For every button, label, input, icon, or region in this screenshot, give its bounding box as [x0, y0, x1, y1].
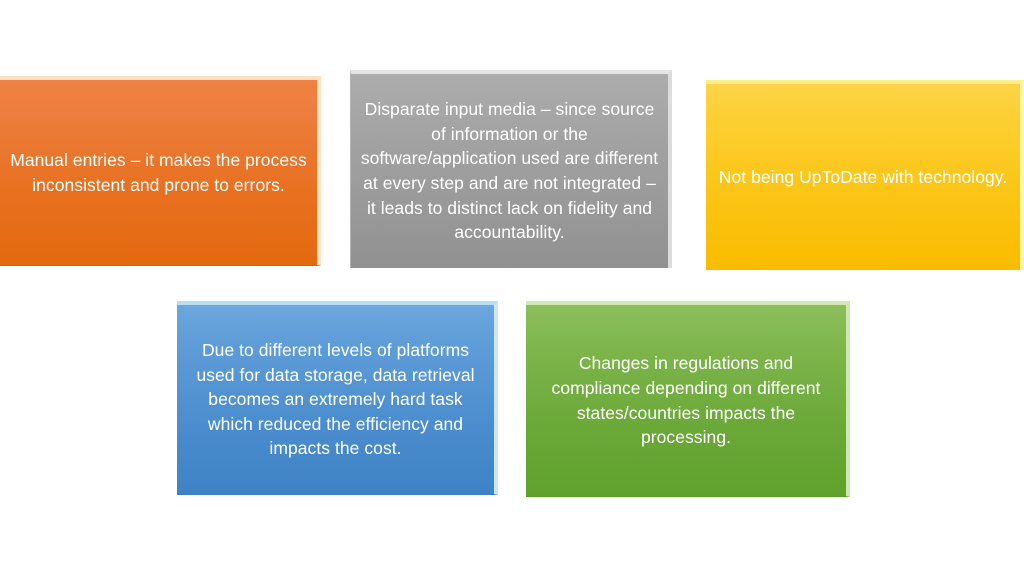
card-disparate-input-media[interactable]: Disparate input media – since source of … [350, 70, 672, 268]
card-not-being-uptodate[interactable]: Not being UpToDate with technology. [706, 80, 1024, 270]
card-manual-entries[interactable]: Manual entries – it makes the process in… [0, 76, 321, 266]
card-not-being-uptodate-text: Not being UpToDate with technology. [711, 165, 1015, 190]
card-data-retrieval-text: Due to different levels of platforms use… [177, 338, 494, 461]
card-changes-in-regulations-text: Changes in regulations and compliance de… [526, 351, 846, 449]
card-changes-in-regulations[interactable]: Changes in regulations and compliance de… [526, 301, 850, 497]
card-manual-entries-text: Manual entries – it makes the process in… [0, 148, 317, 197]
slide-canvas: Manual entries – it makes the process in… [0, 0, 1024, 576]
card-disparate-input-media-text: Disparate input media – since source of … [351, 97, 668, 245]
card-data-retrieval[interactable]: Due to different levels of platforms use… [177, 301, 498, 495]
